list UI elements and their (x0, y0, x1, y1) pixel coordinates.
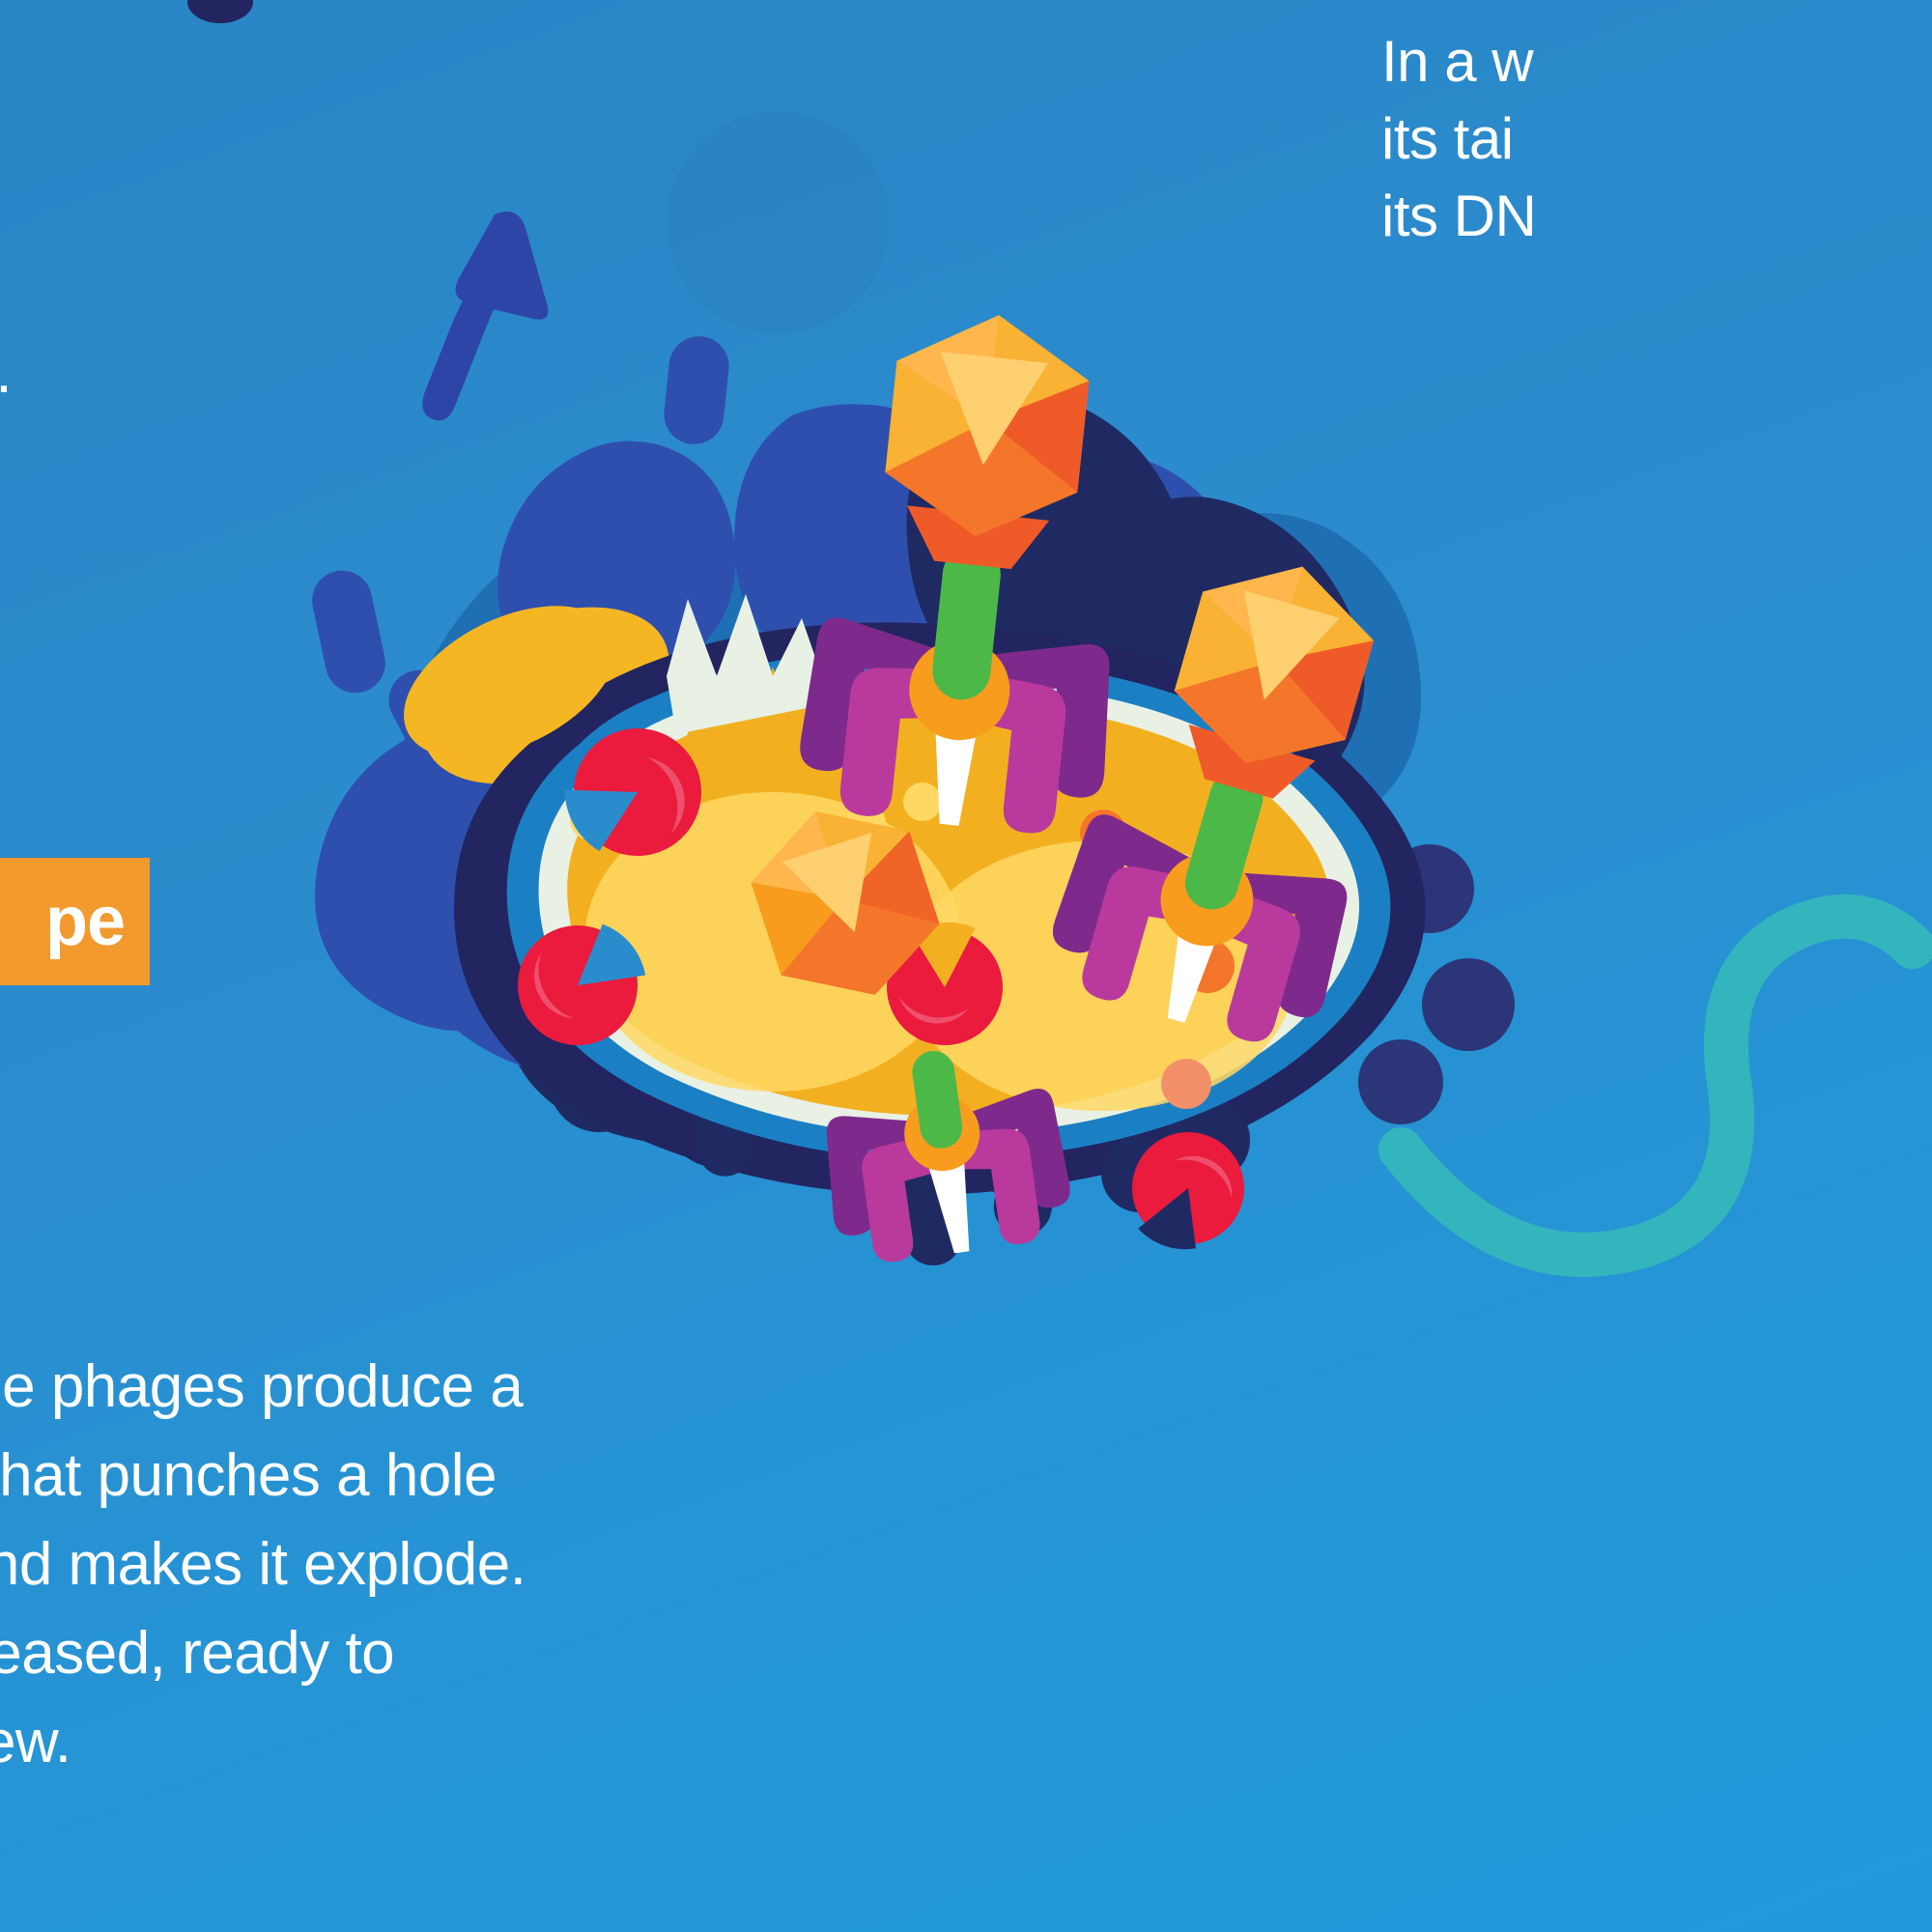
cytoplasm-dot (1161, 1059, 1211, 1109)
caption-right-top: In a w its tai its DN (1381, 23, 1536, 255)
caption-left-top: hing to rface. (0, 170, 12, 413)
splatter-stick (306, 565, 390, 698)
step-badge-label: pe (45, 882, 150, 961)
splatter-stick (661, 333, 731, 447)
up-arrow-icon (422, 212, 548, 420)
cytoplasm-dot (903, 782, 942, 821)
step-badge: pe (0, 858, 150, 985)
poster-canvas: hing to rface. In a w its tai its DN ep,… (0, 0, 1932, 1932)
caption-bottom: ep, the phages produce a yme that punche… (0, 1343, 526, 1787)
splatter-dot-top (187, 0, 253, 23)
